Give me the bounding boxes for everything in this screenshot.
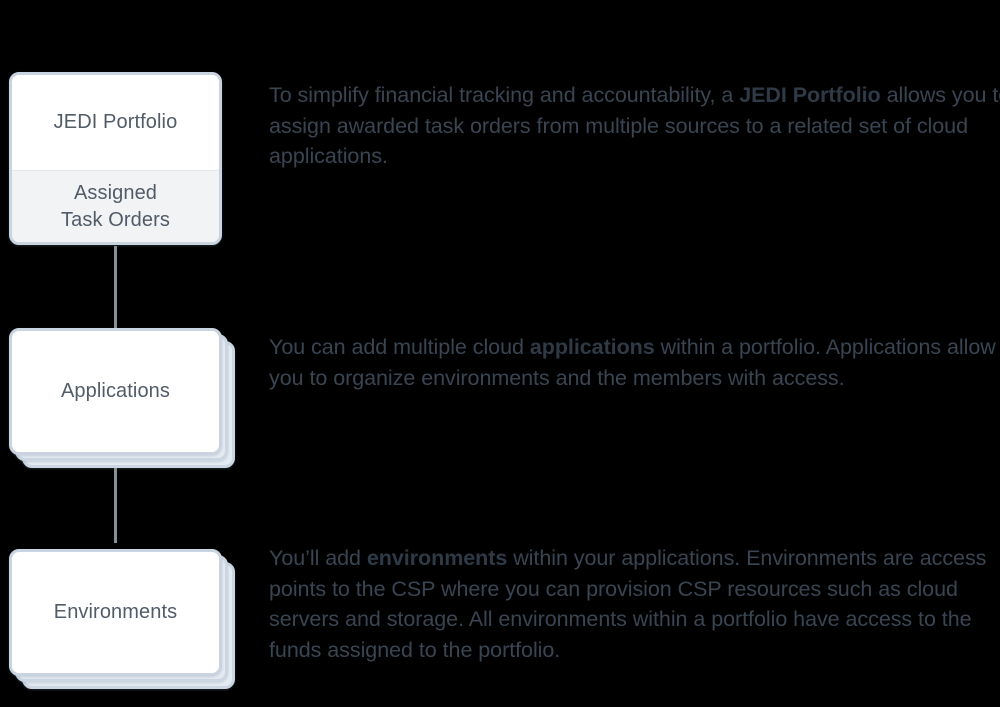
portfolio-card-header: JEDI Portfolio xyxy=(12,75,219,170)
connector-portfolio-to-applications xyxy=(114,246,117,328)
portfolio-description-emphasis: JEDI Portfolio xyxy=(739,83,880,107)
portfolio-description: To simplify financial tracking and accou… xyxy=(269,80,1000,172)
portfolio-card-task-orders-section: Assigned Task Orders xyxy=(12,171,219,242)
portfolio-card-task-orders-label: Assigned Task Orders xyxy=(61,180,170,234)
environments-card-stack[interactable]: Environments xyxy=(9,549,235,689)
portfolio-card-surface: JEDI Portfolio Assigned Task Orders xyxy=(9,72,222,245)
portfolio-structure-diagram: JEDI Portfolio Assigned Task Orders Appl… xyxy=(0,0,1000,707)
applications-description: You can add multiple cloud applications … xyxy=(269,332,1000,393)
portfolio-description-part-1: To simplify financial tracking and accou… xyxy=(269,83,739,107)
environments-description-emphasis: environments xyxy=(367,546,507,570)
connector-applications-to-environments xyxy=(114,467,117,543)
applications-description-part-1: You can add multiple cloud xyxy=(269,335,530,359)
portfolio-card-label: JEDI Portfolio xyxy=(54,109,178,136)
applications-card-front-layer: Applications xyxy=(9,328,222,455)
applications-card-stack[interactable]: Applications xyxy=(9,328,235,468)
portfolio-card[interactable]: JEDI Portfolio Assigned Task Orders xyxy=(9,72,222,245)
environments-card-front-layer: Environments xyxy=(9,549,222,676)
environments-card-label: Environments xyxy=(54,599,177,626)
environments-description: You’ll add environments within your appl… xyxy=(269,543,1000,665)
applications-description-emphasis: applications xyxy=(530,335,655,359)
environments-description-part-1: You’ll add xyxy=(269,546,367,570)
applications-card-label: Applications xyxy=(61,378,170,405)
